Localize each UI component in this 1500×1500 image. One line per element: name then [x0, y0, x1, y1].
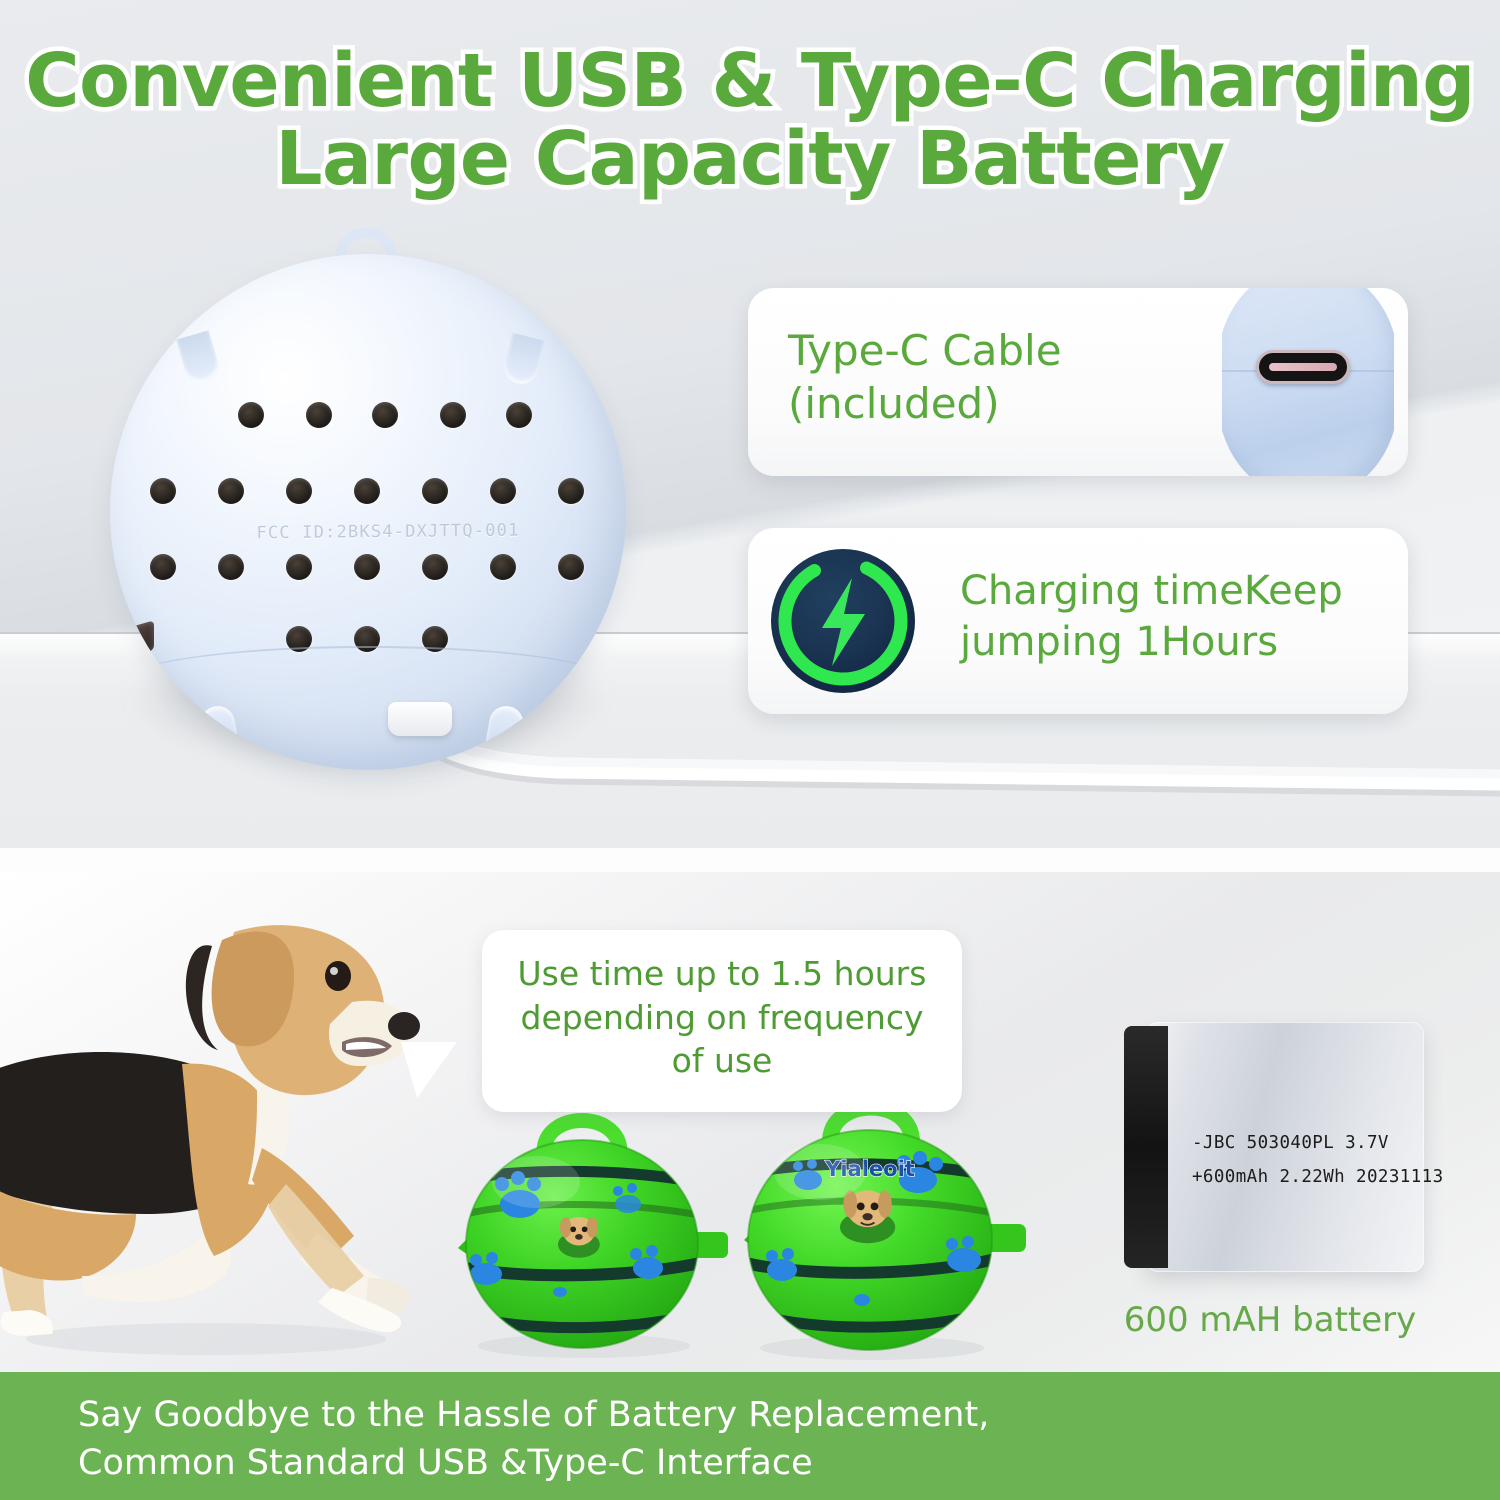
footer-line-1: Say Goodbye to the Hassle of Battery Rep…	[78, 1392, 1418, 1440]
usb-c-port-icon	[1256, 350, 1350, 384]
type-c-line-1: Type-C Cable	[788, 324, 1218, 377]
toy-ball-left	[432, 1096, 732, 1358]
type-c-line-2: (included)	[788, 377, 1218, 430]
page-title: Convenient USB & Type-C Charging Large C…	[0, 42, 1500, 199]
footer-text: Say Goodbye to the Hassle of Battery Rep…	[78, 1392, 1418, 1487]
type-c-card-text: Type-C Cable (included)	[788, 324, 1218, 431]
fcc-id-text: FCC ID:2BKS4-DXJTTQ-001	[228, 520, 548, 543]
battery-label-line-1: -JBC 503040PL 3.7V	[1192, 1126, 1418, 1160]
bubble-line-1: Use time up to 1.5 hours	[506, 952, 938, 996]
charging-line-1: Charging timeKeep	[960, 566, 1380, 617]
usb-c-plug	[388, 702, 452, 736]
speaker-hole	[490, 554, 516, 580]
speaker-hole	[354, 478, 380, 504]
battery-caption: 600 mAH battery	[1060, 1300, 1480, 1340]
speaker-hole	[506, 402, 532, 428]
speaker-hole	[422, 554, 448, 580]
speaker-hole	[238, 402, 264, 428]
bubble-tail	[395, 1042, 457, 1098]
speaker-hole	[372, 402, 398, 428]
speaker-hole	[150, 554, 176, 580]
speaker-hole	[286, 478, 312, 504]
port-housing	[1222, 288, 1394, 476]
bubble-line-2: depending on frequency	[506, 996, 938, 1040]
panel-divider	[0, 848, 1500, 872]
speaker-hole	[218, 478, 244, 504]
toy-ball-right: Yialeoit	[712, 1084, 1032, 1360]
callout-card-charging[interactable]: Charging timeKeep jumping 1Hours	[748, 528, 1408, 714]
speaker-hole	[218, 554, 244, 580]
speaker-hole	[490, 478, 516, 504]
bubble-line-3: of use	[506, 1039, 938, 1083]
speaker-hole	[354, 554, 380, 580]
callout-card-type-c[interactable]: Type-C Cable (included)	[748, 288, 1408, 476]
usb-c-port-photo	[1222, 288, 1394, 476]
usage-time-bubble: Use time up to 1.5 hours depending on fr…	[482, 930, 962, 1112]
bubble-text: Use time up to 1.5 hours depending on fr…	[506, 952, 938, 1083]
battery-terminal-tab	[1124, 1026, 1168, 1268]
device-illustration: FCC ID:2BKS4-DXJTTQ-001	[92, 226, 652, 786]
title-line-2: Large Capacity Battery	[0, 120, 1500, 198]
speaker-hole	[286, 554, 312, 580]
product-infographic: FCC ID:2BKS4-DXJTTQ-001 Type-C Cable (in…	[0, 0, 1500, 1500]
footer-banner: Say Goodbye to the Hassle of Battery Rep…	[0, 1372, 1500, 1500]
beagle-dog	[0, 884, 456, 1362]
speaker-hole	[558, 478, 584, 504]
battery-illustration: -JBC 503040PL 3.7V +600mAh 2.22Wh 202311…	[1124, 1022, 1424, 1272]
speaker-hole	[440, 402, 466, 428]
charging-card-text: Charging timeKeep jumping 1Hours	[960, 566, 1380, 668]
speaker-hole	[558, 554, 584, 580]
charging-badge	[764, 542, 922, 700]
footer-line-2: Common Standard USB &Type-C Interface	[78, 1440, 1418, 1488]
white-ball-body: FCC ID:2BKS4-DXJTTQ-001	[110, 254, 626, 770]
speaker-hole	[150, 478, 176, 504]
battery-label-line-2: +600mAh 2.22Wh 20231113	[1192, 1160, 1418, 1194]
battery-label: -JBC 503040PL 3.7V +600mAh 2.22Wh 202311…	[1192, 1126, 1418, 1194]
seam-line	[125, 646, 610, 716]
title-line-1: Convenient USB & Type-C Charging	[25, 38, 1474, 124]
charging-line-2: jumping 1Hours	[960, 617, 1380, 668]
speaker-hole	[306, 402, 332, 428]
speaker-hole	[422, 478, 448, 504]
